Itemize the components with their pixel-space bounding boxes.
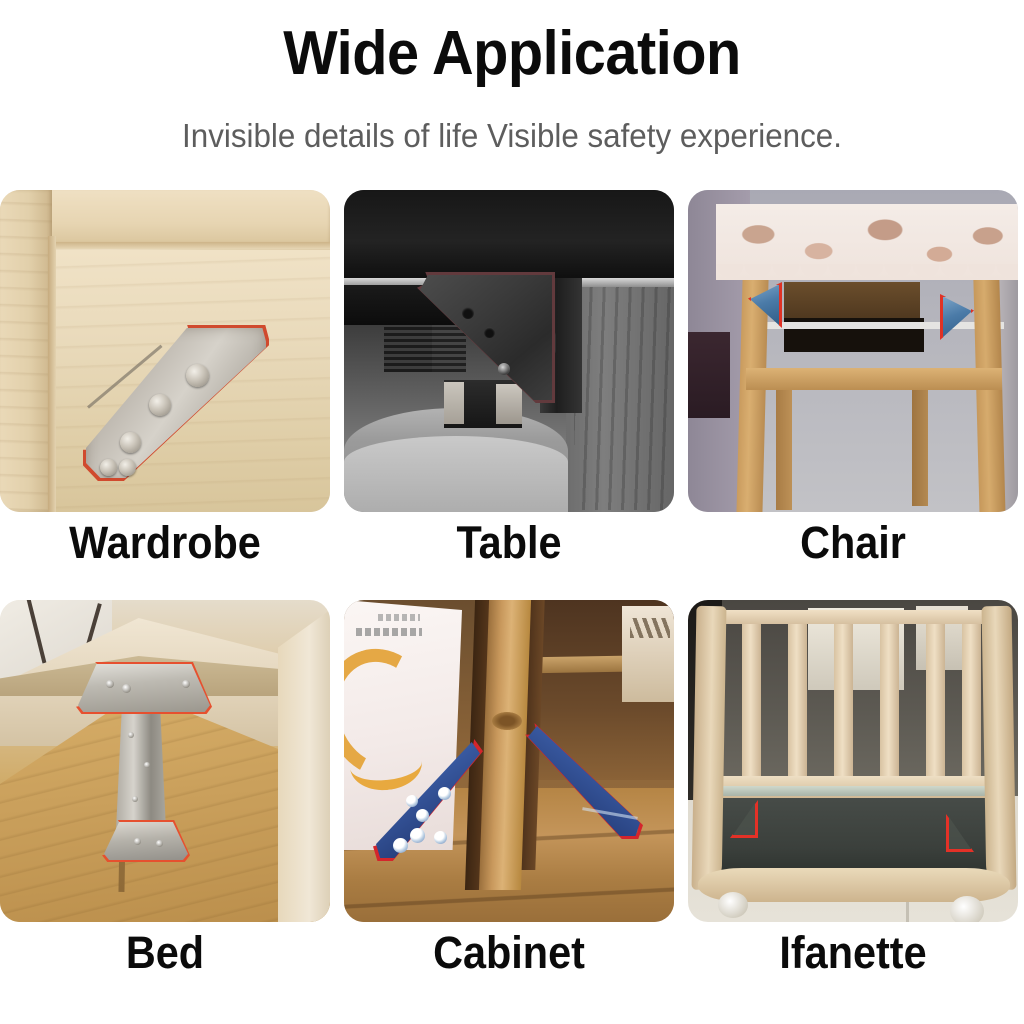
bed-right-rail (278, 610, 330, 922)
screw-icon (416, 809, 429, 822)
caption-wardrobe: Wardrobe (13, 520, 317, 565)
crib-frame-right (982, 606, 1017, 890)
caption-bed: Bed (13, 930, 317, 975)
page-title: Wide Application (36, 0, 988, 85)
crib-frame-left (692, 606, 727, 890)
wardrobe-left-lip (48, 236, 56, 512)
gallery-row-1: Wardrobe (0, 190, 1024, 600)
gallery-item-bed[interactable]: Bed (0, 600, 330, 922)
screw-icon (119, 459, 136, 476)
gallery-item-ifanette[interactable]: Ifanette (688, 600, 1018, 922)
wardrobe-left-stile (0, 190, 52, 512)
table-floor-highlight (344, 436, 568, 512)
screw-icon (106, 680, 114, 688)
screw-icon (438, 787, 451, 800)
caption-chair: Chair (701, 520, 1005, 565)
gallery-item-chair[interactable]: Chair (688, 190, 1018, 512)
corner-bracket-highlight (78, 664, 210, 712)
infographic-page: Wide Application Invisible details of li… (0, 0, 1024, 1024)
metal-bracket-body (420, 275, 552, 400)
screw-icon (410, 828, 425, 843)
chair-wall-shadow (688, 332, 730, 418)
photo-bed (0, 600, 330, 922)
caption-table: Table (357, 520, 661, 565)
crib-slat (788, 614, 807, 782)
screw-icon (134, 838, 141, 845)
screw-icon (406, 795, 418, 807)
screw-icon (100, 459, 117, 476)
screw-icon (128, 732, 134, 738)
chair-back-leg-left (776, 386, 792, 510)
corner-bracket-highlight (748, 282, 782, 328)
photo-chair (688, 190, 1018, 512)
screw-icon (182, 680, 190, 688)
table-top-underside (344, 190, 674, 282)
screw-icon (149, 394, 171, 416)
corner-bracket-highlight (104, 822, 188, 860)
vertical-bracket-body (116, 704, 166, 830)
screw-icon (120, 432, 141, 453)
blue-bracket-body (528, 726, 640, 836)
screw-icon (156, 840, 163, 847)
screw-icon (393, 838, 408, 853)
photo-table (344, 190, 674, 512)
cabinet-right-label (630, 618, 670, 638)
crib-slat (880, 614, 899, 782)
metal-bracket-body (104, 822, 188, 860)
metal-bracket-body (78, 664, 210, 712)
blue-bracket-body (376, 742, 480, 858)
corner-bracket-highlight (940, 294, 974, 340)
chair-back-leg-right (912, 386, 928, 506)
corner-bracket-highlight (86, 328, 266, 478)
gallery-item-wardrobe[interactable]: Wardrobe (0, 190, 330, 512)
corner-bracket-highlight (730, 800, 758, 838)
photo-wardrobe (0, 190, 330, 512)
page-subtitle: Invisible details of life Visible safety… (26, 85, 999, 152)
wardrobe-stile-grain (0, 190, 52, 512)
screw-icon (122, 684, 131, 693)
wardrobe-top-lip (42, 242, 330, 249)
table-wall-texture (574, 280, 672, 510)
crib-glass-strip (714, 786, 996, 796)
metal-bracket-body (86, 328, 266, 478)
photo-ifanette (688, 600, 1018, 922)
gallery-row-2: Bed (0, 600, 1024, 1010)
cabinet-wood-knot (492, 712, 522, 730)
crib-slat (742, 614, 761, 782)
photo-cabinet (344, 600, 674, 922)
carton-text-line-2 (356, 628, 422, 636)
crib-slat (962, 614, 981, 782)
corner-bracket-highlight (946, 814, 974, 852)
screw-icon (498, 363, 510, 375)
crib-slat (834, 614, 853, 782)
application-gallery: Wardrobe (0, 190, 1024, 1010)
screw-icon (132, 796, 138, 802)
corner-bracket-highlight (376, 742, 480, 858)
corner-bracket-highlight (528, 726, 640, 836)
crib-top-rail (702, 610, 1008, 624)
crib-castor-right (950, 896, 984, 922)
crib-castor-left (718, 892, 748, 918)
chair-front-stretcher (746, 368, 1002, 390)
red-outline-marker (748, 282, 782, 328)
screw-hole-icon (484, 327, 495, 338)
screw-icon (434, 831, 447, 844)
caption-cabinet: Cabinet (357, 930, 661, 975)
gallery-item-table[interactable]: Table (344, 190, 674, 512)
screw-icon (144, 762, 150, 768)
carton-text-line-1 (378, 614, 420, 621)
corner-bracket-highlight (420, 275, 552, 400)
screw-hole-icon (462, 307, 474, 319)
red-outline-marker (940, 294, 974, 340)
screw-icon (186, 364, 209, 387)
gallery-item-cabinet[interactable]: Cabinet (344, 600, 674, 922)
caption-ifanette: Ifanette (701, 930, 1005, 975)
header: Wide Application Invisible details of li… (0, 0, 1024, 152)
crib-slat (926, 614, 945, 782)
